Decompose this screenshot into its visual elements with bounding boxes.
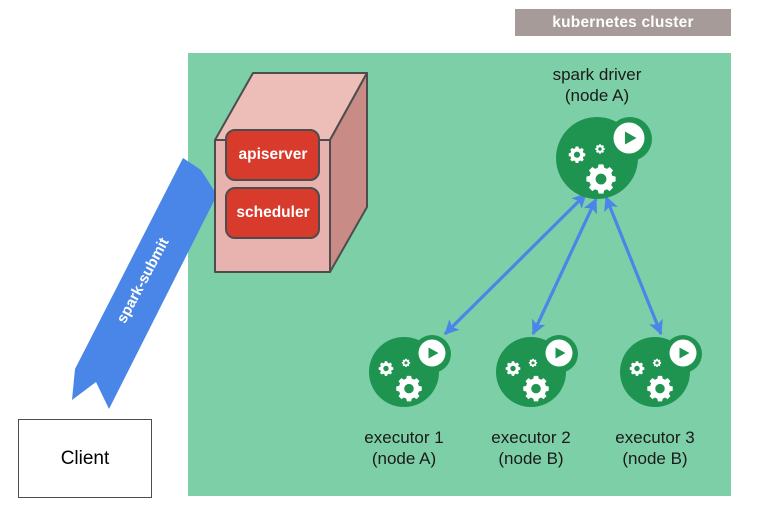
executor-2-gear-large: [523, 376, 548, 401]
executor-3-gear-large: [647, 376, 672, 401]
executor-3-gear-small: [653, 359, 661, 367]
diagram-canvas: kubernetes cluster apiserver scheduler s…: [0, 0, 761, 516]
control-plane-cube: [215, 73, 367, 272]
executor-1-gear-large: [396, 376, 421, 401]
client-label: Client: [61, 448, 110, 470]
executor-1-gear-small: [402, 359, 410, 367]
apiserver-block: [226, 130, 319, 180]
executor-2-gear-small: [529, 359, 537, 367]
scheduler-block: [226, 188, 319, 238]
driver-gear-small: [595, 144, 605, 154]
driver-gear-medium: [569, 146, 586, 163]
driver-gear-large: [586, 164, 615, 193]
executor-3-gear-medium: [630, 361, 645, 376]
cluster-banner-label: kubernetes cluster: [515, 9, 731, 36]
client-box: Client: [18, 419, 152, 498]
executor-2-gear-medium: [506, 361, 521, 376]
executor-1-gear-medium: [379, 361, 394, 376]
